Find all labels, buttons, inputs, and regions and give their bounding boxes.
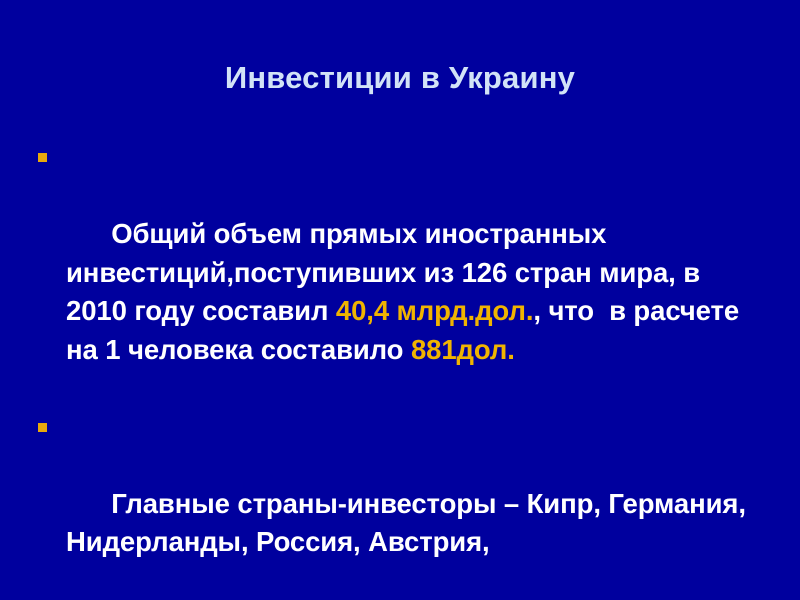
bullet-item-main-investor-countries: Главные страны-инвесторы – Кипр, Германи… bbox=[28, 408, 768, 600]
bullet-text-investor-countries: Главные страны-инвесторы – Кипр, Германи… bbox=[66, 488, 753, 558]
slide-body-content: Общий объем прямых иностранных инвестици… bbox=[28, 138, 768, 600]
presentation-slide: Инвестиции в Украину Общий объем прямых … bbox=[0, 0, 800, 600]
square-bullet-icon bbox=[38, 153, 47, 162]
bullet-highlight-total-fdi: 40,4 млрд.дол. bbox=[336, 295, 533, 326]
bullet-highlight-fdi-per-capita: 881дол. bbox=[411, 334, 515, 365]
slide-title: Инвестиции в Украину bbox=[0, 58, 800, 98]
square-bullet-icon bbox=[38, 423, 47, 432]
bullet-item-investment-volume: Общий объем прямых иностранных инвестици… bbox=[28, 138, 768, 408]
